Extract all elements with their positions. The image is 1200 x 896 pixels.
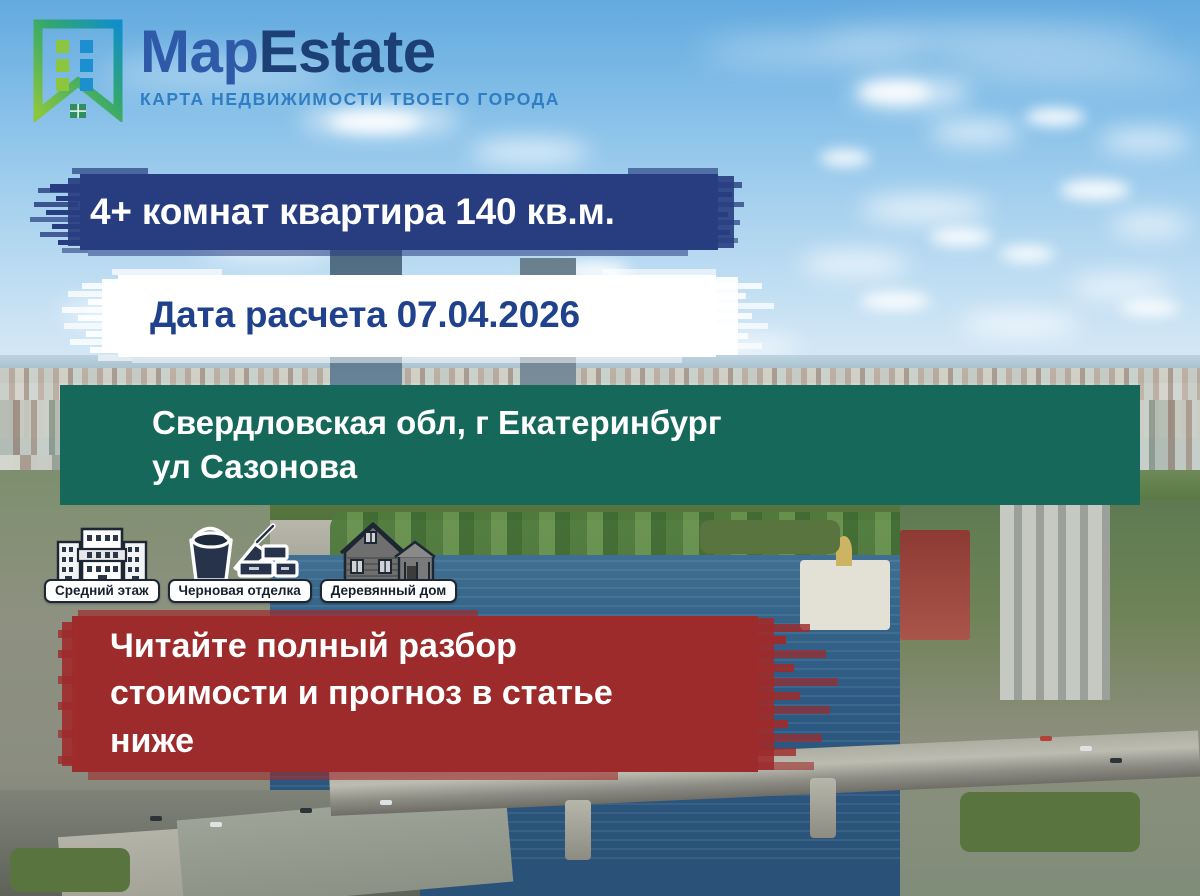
brand-name: MapEstate bbox=[140, 22, 560, 82]
paint-bucket-trowel-icon bbox=[179, 520, 301, 588]
badge-rough-finish[interactable]: Черновая отделка bbox=[168, 520, 312, 603]
cta-banner-text: Читайте полный разбор стоимости и прогно… bbox=[58, 623, 613, 766]
brand-tagline: КАРТА НЕДВИЖИМОСТИ ТВОЕГО ГОРОДА bbox=[140, 89, 560, 110]
red-building bbox=[900, 530, 970, 640]
tall-block-right bbox=[1000, 500, 1110, 700]
badge-middle-floor[interactable]: Средний этаж bbox=[44, 526, 160, 603]
brand-name-estate: Estate bbox=[259, 18, 436, 85]
badge-wooden-house[interactable]: Деревянный дом bbox=[320, 522, 458, 603]
address-banner: Свердловская обл, г Екатеринбург ул Сазо… bbox=[60, 385, 1140, 505]
rooms-banner: 4+ комнат квартира 140 кв.м. bbox=[28, 162, 746, 262]
badge-middle-floor-label: Средний этаж bbox=[44, 579, 160, 603]
address-line-2: ул Сазонова bbox=[152, 445, 722, 489]
address-line-1: Свердловская обл, г Екатеринбург bbox=[152, 401, 722, 445]
cta-line-1: Читайте полный разбор bbox=[110, 623, 613, 671]
brand-name-map: Map bbox=[140, 18, 259, 85]
cta-line-2: стоимости и прогноз в статье bbox=[110, 670, 613, 718]
badge-wooden-house-label: Деревянный дом bbox=[320, 579, 458, 603]
rooms-banner-text: 4+ комнат квартира 140 кв.м. bbox=[28, 189, 615, 234]
cta-line-3: ниже bbox=[110, 718, 613, 766]
date-banner: Дата расчета 07.04.2026 bbox=[62, 265, 778, 365]
feature-badges: Средний этаж Черновая отделка bbox=[44, 520, 457, 603]
bookmark-building-icon bbox=[30, 18, 126, 122]
badge-rough-finish-label: Черновая отделка bbox=[168, 579, 312, 603]
brand-logo[interactable]: MapEstate КАРТА НЕДВИЖИМОСТИ ТВОЕГО ГОРО… bbox=[30, 18, 560, 122]
date-banner-text: Дата расчета 07.04.2026 bbox=[62, 292, 580, 337]
promo-poster: MapEstate КАРТА НЕДВИЖИМОСТИ ТВОЕГО ГОРО… bbox=[0, 0, 1200, 896]
address-banner-text: Свердловская обл, г Екатеринбург ул Сазо… bbox=[60, 401, 722, 488]
cta-banner: Читайте полный разбор стоимости и прогно… bbox=[58, 606, 842, 782]
